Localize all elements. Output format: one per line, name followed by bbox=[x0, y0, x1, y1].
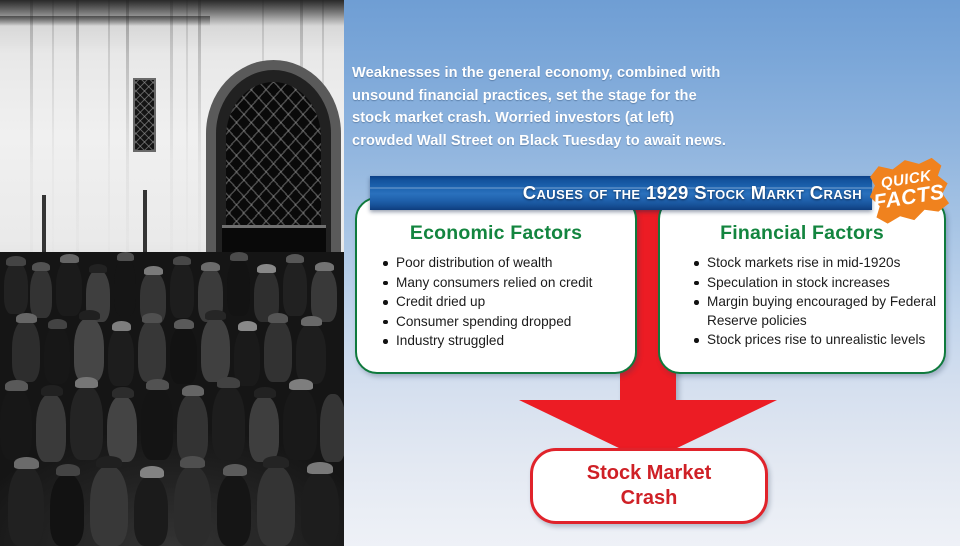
list-item: Speculation in stock increases bbox=[694, 274, 936, 293]
quick-facts-badge: QUICK FACTS bbox=[861, 152, 954, 230]
infographic-root: Weaknesses in the general economy, combi… bbox=[0, 0, 960, 546]
result-line-1: Stock Market bbox=[587, 462, 712, 484]
panel-economic-factors: Economic Factors Poor distribution of we… bbox=[355, 197, 637, 374]
result-stock-market-crash: Stock Market Crash bbox=[530, 448, 768, 524]
panel-title-economic: Economic Factors bbox=[357, 222, 635, 245]
list-item: Stock prices rise to unrealistic levels bbox=[694, 331, 936, 350]
photo-crowd bbox=[0, 252, 344, 546]
wall-street-crowd-photo bbox=[0, 0, 344, 546]
result-line-2: Crash bbox=[621, 487, 678, 509]
list-item: Credit dried up bbox=[383, 293, 625, 312]
list-item: Stock markets rise in mid-1920s bbox=[694, 254, 936, 273]
caption-text: Weaknesses in the general economy, combi… bbox=[352, 62, 732, 152]
banner-title-text: Causes of the 1929 Stock Markt Crash bbox=[523, 176, 862, 210]
financial-factors-list: Stock markets rise in mid-1920s Speculat… bbox=[660, 254, 944, 350]
list-item: Many consumers relied on credit bbox=[383, 274, 625, 293]
list-item: Industry struggled bbox=[383, 332, 625, 351]
photo-small-window bbox=[133, 78, 156, 152]
list-item: Consumer spending dropped bbox=[383, 313, 625, 332]
title-banner: Causes of the 1929 Stock Markt Crash bbox=[370, 176, 872, 210]
list-item: Margin buying encouraged by Federal Rese… bbox=[694, 293, 936, 330]
list-item: Poor distribution of wealth bbox=[383, 254, 625, 273]
economic-factors-list: Poor distribution of wealth Many consume… bbox=[357, 254, 635, 351]
result-text: Stock Market Crash bbox=[587, 461, 712, 511]
